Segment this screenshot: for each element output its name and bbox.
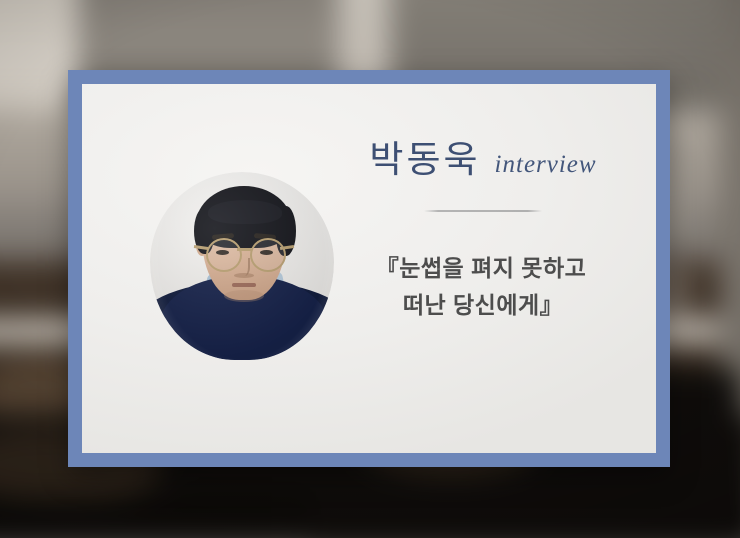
header-divider bbox=[424, 210, 542, 212]
person-name: 박동욱 bbox=[369, 140, 480, 183]
slide-stage: 박동욱 interview 『눈썹을 펴지 못하고 떠난 당신에게』 bbox=[0, 0, 740, 538]
interview-card: 박동욱 interview 『눈썹을 펴지 못하고 떠난 당신에게』 bbox=[82, 84, 656, 453]
portrait-photo bbox=[150, 172, 334, 360]
portrait-container bbox=[150, 172, 334, 360]
book-title-line-2: 떠난 당신에게』 bbox=[314, 287, 652, 324]
portrait-lighting-overlay bbox=[150, 172, 334, 360]
name-row: 박동욱 interview bbox=[314, 140, 652, 183]
book-title: 『눈썹을 펴지 못하고 떠난 당신에게』 bbox=[314, 250, 652, 325]
book-title-line-1: 『눈썹을 펴지 못하고 bbox=[314, 250, 652, 287]
interview-card-frame: 박동욱 interview 『눈썹을 펴지 못하고 떠난 당신에게』 bbox=[68, 70, 670, 467]
card-text-column: 박동욱 interview 『눈썹을 펴지 못하고 떠난 당신에게』 bbox=[314, 140, 652, 324]
interview-label: interview bbox=[495, 151, 597, 179]
